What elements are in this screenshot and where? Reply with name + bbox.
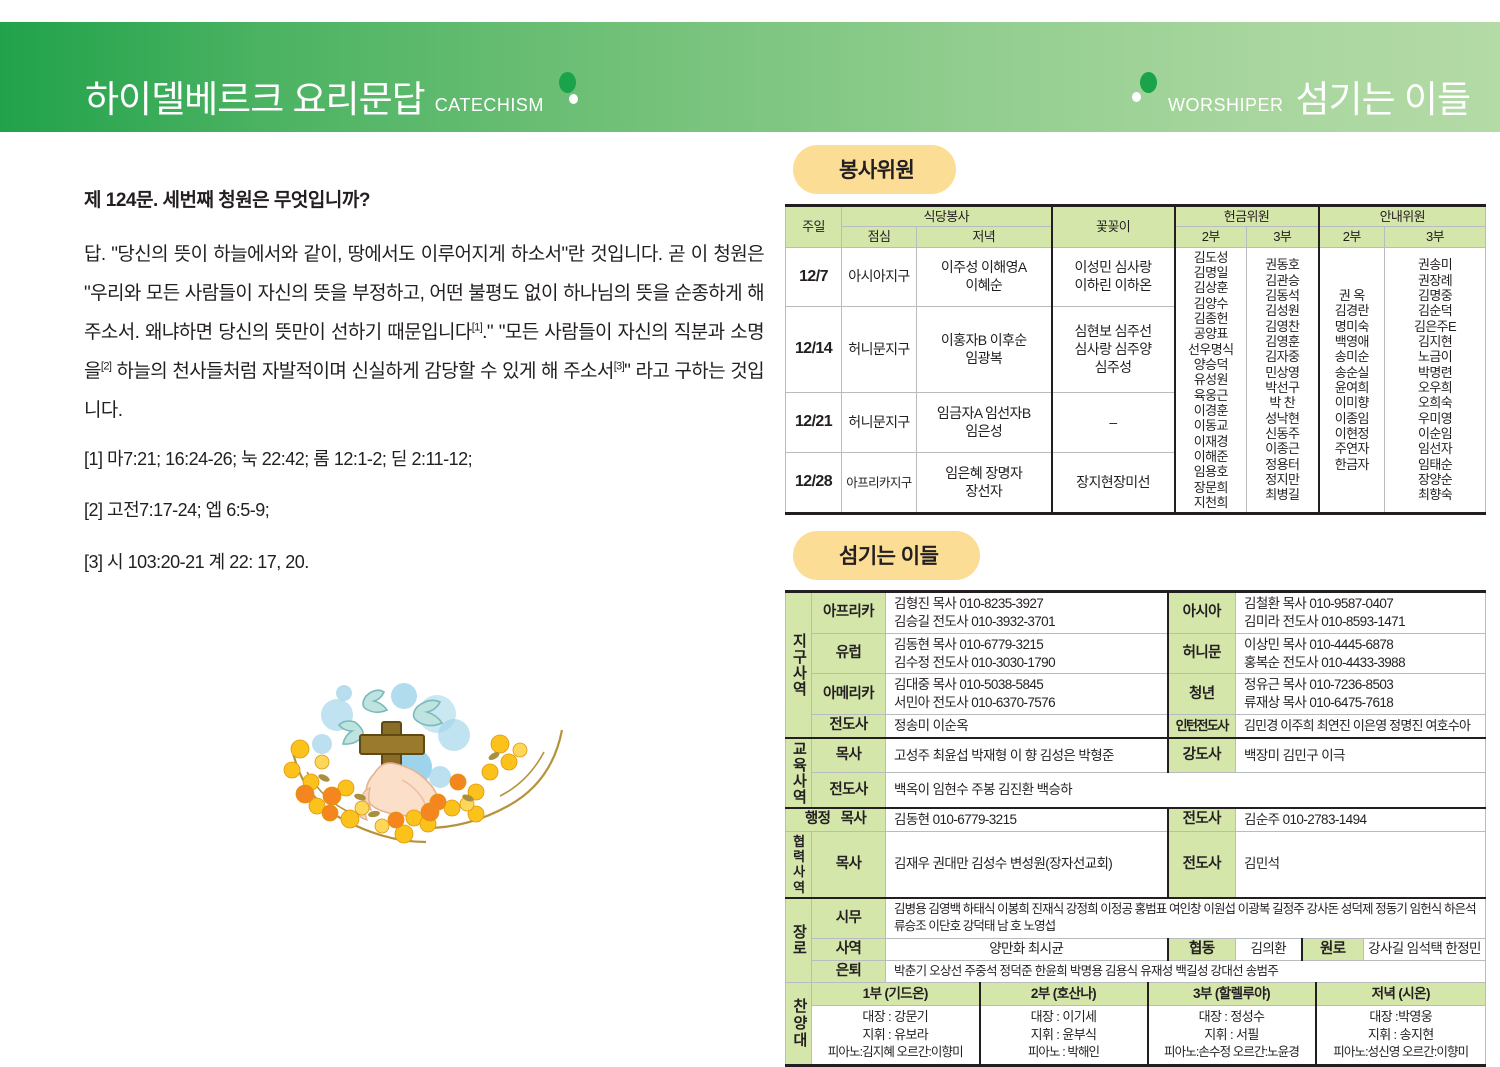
value-elder-service: 양만화 최시균 — [886, 938, 1168, 960]
choir-col-title-2: 2부 (호산나) — [980, 982, 1148, 1006]
cell-lunch-district: 아프리카지구 — [842, 453, 917, 514]
cell-dinner: 임은혜 장명자장선자 — [917, 453, 1052, 514]
value-elder-senior: 강사길 임석택 한정민 — [1364, 938, 1486, 960]
choir-staff-1: 대장 : 강문기 지휘 : 유보라 피아노:김지혜 오르간:이향미 — [812, 1006, 980, 1065]
cell-offering-part3: 권동호김관승김동석김성원김영찬김영훈김자중민상영박선구박 찬성낙현신동주이종근정… — [1247, 247, 1319, 514]
table-header-row-1: 주일 식당봉사 꽃꽂이 헌금위원 안내위원 — [786, 206, 1486, 227]
value-coop-pastor: 김재우 권대만 김성수 변성원(장자선교회) — [886, 831, 1168, 898]
table-row: 은퇴 박춘기 오상선 주중석 정덕준 한윤희 박명용 김용식 유재성 백길성 강… — [786, 960, 1486, 983]
label-admin-evangelist: 전도사 — [1168, 808, 1236, 831]
dots-decoration-icon — [554, 72, 578, 118]
catechism-answer: 답. "당신의 뜻이 하늘에서와 같이, 땅에서도 이루어지게 하소서"란 것입… — [84, 236, 764, 431]
label-district-evangelist: 전도사 — [812, 715, 886, 738]
col-header-offering: 헌금위원 — [1175, 206, 1319, 227]
choir-staff-4: 대장 :박영웅 지휘 : 송지현 피아노:성신영 오르간:이향미 — [1316, 1006, 1486, 1065]
col-header-sunday: 주일 — [786, 206, 842, 248]
value-admin-evangelist: 김순주 010-2783-1494 — [1236, 808, 1486, 831]
cell-lunch-district: 허니문지구 — [842, 307, 917, 393]
table-row: 교육사역 목사 고성주 최윤섭 박재형 이 향 김성은 박형준 강도사 백장미 … — [786, 738, 1486, 773]
value-europe: 김동현 목사 010-6779-3215김수정 전도사 010-3030-179… — [886, 633, 1168, 674]
choir-conductor-3: 지휘 : 서필 — [1152, 1026, 1312, 1044]
cell-date: 12/21 — [786, 393, 842, 453]
banner-title-worshiper: 섬기는 이들 — [1296, 81, 1470, 118]
col-header-dinner: 저녁 — [917, 227, 1052, 247]
label-preacher: 강도사 — [1168, 738, 1236, 773]
label-elder-coop: 협동 — [1168, 938, 1236, 960]
choir-table: 찬양대 1부 (기드온) 2부 (호산나) 3부 (할렐루야) 저녁 (시온) … — [785, 982, 1486, 1067]
col-header-offering-part2: 2부 — [1175, 227, 1247, 247]
label-europe: 유럽 — [812, 633, 886, 674]
value-coop-evangelist: 김민석 — [1236, 831, 1486, 898]
table-row: 전도사 백옥이 임현수 주봉 김진환 백승하 — [786, 773, 1486, 808]
cell-dinner: 이주성 이해영A이혜순 — [917, 247, 1052, 307]
label-coop: 협력사역 — [786, 831, 812, 898]
value-preacher: 백장미 김민구 이극 — [1236, 738, 1486, 773]
cell-guide-part2: 권 옥김경란명미숙백영애송미순송순실윤여희이미향이종임이현정주연자한금자 — [1319, 247, 1385, 514]
value-asia: 김철환 목사 010-9587-0407김미라 전도사 010-8593-147… — [1236, 592, 1486, 634]
volunteers-table: 주일 식당봉사 꽃꽂이 헌금위원 안내위원 점심 저녁 2부 3부 2부 3부 … — [785, 204, 1486, 515]
banner-subtitle-worshiper: WORSHIPER — [1168, 96, 1284, 118]
label-education-pastor: 목사 — [812, 738, 886, 773]
value-america: 김대중 목사 010-5038-5845서민아 전도사 010-6370-757… — [886, 674, 1168, 715]
value-intern-evangelist: 김민경 이주희 최연진 이은영 정명진 여호수아 — [1236, 715, 1486, 738]
table-row: 장로 시무 김병용 김영백 하태식 이봉희 진재식 강정희 이정공 홍범표 여인… — [786, 898, 1486, 938]
cell-lunch-district: 아시아지구 — [842, 247, 917, 307]
table-row: 아메리카 김대중 목사 010-5038-5845서민아 전도사 010-637… — [786, 674, 1486, 715]
label-elder-retired: 은퇴 — [812, 960, 886, 983]
servers-table: 지구사역 아프리카 김형진 목사 010-8235-3927김승길 전도사 01… — [785, 590, 1486, 985]
cell-flower: 심현보 심주선심사랑 심주양심주성 — [1052, 307, 1175, 393]
label-asia: 아시아 — [1168, 592, 1236, 634]
section-title-volunteers: 봉사위원 — [793, 145, 956, 194]
reference-line-3: [3] 시 103:20-21 계 22: 17, 20. — [84, 552, 764, 574]
col-header-offering-part3: 3부 — [1247, 227, 1319, 247]
row-label-district: 지구사역 — [786, 592, 812, 738]
section-title-servers: 섬기는 이들 — [793, 531, 980, 580]
value-honeymoon: 이상민 목사 010-4445-6878홍복순 전도사 010-4433-398… — [1236, 633, 1486, 674]
cell-flower: – — [1052, 393, 1175, 453]
value-education-pastor: 고성주 최윤섭 박재형 이 향 김성은 박형준 — [886, 738, 1168, 773]
value-youth: 정유근 목사 010-7236-8503류재상 목사 010-6475-7618 — [1236, 674, 1486, 715]
label-intern-evangelist: 인턴전도사 — [1168, 715, 1236, 738]
banner-right-group: WORSHIPER 섬기는 이들 — [1132, 72, 1470, 118]
page-banner: 하이델베르크 요리문답 CATECHISM WORSHIPER 섬기는 이들 — [0, 22, 1500, 132]
choir-accompanist-3: 피아노:손수정 오르간:노윤경 — [1152, 1044, 1312, 1061]
row-label-elder: 장로 — [786, 898, 812, 983]
value-elder-active: 김병용 김영백 하태식 이봉희 진재식 강정희 이정공 홍범표 여인창 이원섭 … — [886, 898, 1486, 938]
cell-date: 12/14 — [786, 307, 842, 393]
table-row: 유럽 김동현 목사 010-6779-3215김수정 전도사 010-3030-… — [786, 633, 1486, 674]
cell-date: 12/28 — [786, 453, 842, 514]
value-district-evangelist: 정송미 이순옥 — [886, 715, 1168, 738]
choir-col-title-1: 1부 (기드온) — [812, 982, 980, 1006]
value-admin-pastor: 김동현 010-6779-3215 — [886, 808, 1168, 831]
choir-accompanist-4: 피아노:성신영 오르간:이향미 — [1320, 1044, 1483, 1061]
cell-flower: 장지현장미선 — [1052, 453, 1175, 514]
table-row: 전도사 정송미 이순옥 인턴전도사 김민경 이주희 최연진 이은영 정명진 여호… — [786, 715, 1486, 738]
cell-guide-part3: 권송미권장례김명중김순덕김은주E김지현노금이박명련오우희오희숙우미영이순임임선자… — [1385, 247, 1486, 514]
banner-title-catechism: 하이델베르크 요리문답 — [85, 81, 425, 118]
table-row: 대장 : 강문기 지휘 : 유보라 피아노:김지혜 오르간:이향미 대장 : 이… — [786, 1006, 1486, 1065]
label-elder-active: 시무 — [812, 898, 886, 938]
footnote-marker-2: [2] — [101, 360, 111, 372]
reference-line-2: [2] 고전7:17-24; 엡 6:5-9; — [84, 500, 764, 522]
choir-accompanist-1: 피아노:김지혜 오르간:이향미 — [815, 1044, 976, 1061]
table-row: 사역 양만화 최시균 협동 김의환 원로 강사길 임석택 한정민 — [786, 938, 1486, 960]
row-label-choir: 찬양대 — [786, 982, 812, 1065]
label-admin-pastor: 목사 — [841, 811, 866, 827]
dots-decoration-icon-right — [1132, 72, 1156, 118]
catechism-question: 제 124문. 세번째 청원은 무엇입니까? — [84, 185, 764, 212]
row-label-education: 교육사역 — [786, 738, 812, 808]
answer-part-3: 하늘의 천사들처럼 자발적이며 신실하게 감당할 수 있게 해 주소서 — [111, 361, 613, 382]
col-header-meal: 식당봉사 — [842, 206, 1052, 227]
label-elder-senior: 원로 — [1302, 938, 1364, 960]
col-header-guide-part3: 3부 — [1385, 227, 1486, 247]
table-row: 지구사역 아프리카 김형진 목사 010-8235-3927김승길 전도사 01… — [786, 592, 1486, 634]
choir-leader-4: 대장 :박영웅 — [1320, 1008, 1483, 1026]
footnote-marker-3: [3] — [614, 360, 624, 372]
choir-staff-3: 대장 : 정성수 지휘 : 서필 피아노:손수정 오르간:노윤경 — [1148, 1006, 1316, 1065]
table-row: 협력사역 목사 김재우 권대만 김성수 변성원(장자선교회) 전도사 김민석 — [786, 831, 1486, 898]
value-elder-retired: 박춘기 오상선 주중석 정덕준 한윤희 박명용 김용식 유재성 백길성 강대선 … — [886, 960, 1486, 983]
choir-conductor-2: 지휘 : 윤부식 — [984, 1026, 1144, 1044]
col-header-lunch: 점심 — [842, 227, 917, 247]
label-youth: 청년 — [1168, 674, 1236, 715]
label-coop-evangelist: 전도사 — [1168, 831, 1236, 898]
cell-date: 12/7 — [786, 247, 842, 307]
choir-leader-1: 대장 : 강문기 — [815, 1008, 976, 1026]
value-africa: 김형진 목사 010-8235-3927김승길 전도사 010-3932-370… — [886, 592, 1168, 634]
choir-leader-2: 대장 : 이기세 — [984, 1008, 1144, 1026]
footnote-marker-1: [1] — [472, 322, 482, 334]
label-admin: 행정 목사 — [786, 808, 886, 831]
cell-dinner: 이홍자B 이후순임광복 — [917, 307, 1052, 393]
right-column: 봉사위원 주일 식당봉사 꽃꽂이 헌금위원 안내위원 점심 저녁 2부 3부 2… — [785, 145, 1485, 1067]
catechism-section: 제 124문. 세번째 청원은 무엇입니까? 답. "당신의 뜻이 하늘에서와 … — [84, 185, 764, 603]
label-africa: 아프리카 — [812, 592, 886, 634]
cell-offering-part2: 김도성김명일김상훈김양수김종헌공양표선우명식양승덕유성원육웅근이경훈이동교이재경… — [1175, 247, 1247, 514]
choir-col-title-3: 3부 (할렐루야) — [1148, 982, 1316, 1006]
choir-leader-3: 대장 : 정성수 — [1152, 1008, 1312, 1026]
label-honeymoon: 허니문 — [1168, 633, 1236, 674]
table-row: 행정 목사 김동현 010-6779-3215 전도사 김순주 010-2783… — [786, 808, 1486, 831]
label-coop-pastor: 목사 — [812, 831, 886, 898]
choir-staff-2: 대장 : 이기세 지휘 : 윤부식 피아노 : 박해인 — [980, 1006, 1148, 1065]
cell-dinner: 임금자A 임선자B임은성 — [917, 393, 1052, 453]
banner-subtitle-catechism: CATECHISM — [435, 96, 544, 118]
value-education-evangelist: 백옥이 임현수 주봉 김진환 백승하 — [886, 773, 1486, 808]
banner-left-group: 하이델베르크 요리문답 CATECHISM — [85, 72, 578, 118]
reference-line-1: [1] 마7:21; 16:24-26; 눅 22:42; 롬 12:1-2; … — [84, 449, 764, 471]
col-header-guide: 안내위원 — [1319, 206, 1486, 227]
choir-col-title-4: 저녁 (시온) — [1316, 982, 1486, 1006]
col-header-flower: 꽃꽂이 — [1052, 206, 1175, 248]
col-header-guide-part2: 2부 — [1319, 227, 1385, 247]
table-row: 12/7 아시아지구 이주성 이해영A이혜순 이성민 심사랑이하린 이하온 김도… — [786, 247, 1486, 307]
choir-accompanist-2: 피아노 : 박해인 — [984, 1044, 1144, 1061]
cell-flower: 이성민 심사랑이하린 이하온 — [1052, 247, 1175, 307]
cross-in-praying-hands-with-flowers-and-doves-icon — [262, 622, 592, 912]
table-row: 찬양대 1부 (기드온) 2부 (호산나) 3부 (할렐루야) 저녁 (시온) — [786, 982, 1486, 1006]
value-elder-coop: 김의환 — [1236, 938, 1302, 960]
label-elder-service: 사역 — [812, 938, 886, 960]
choir-conductor-4: 지휘 : 송지현 — [1320, 1026, 1483, 1044]
cell-lunch-district: 허니문지구 — [842, 393, 917, 453]
label-america: 아메리카 — [812, 674, 886, 715]
label-admin-text: 행정 — [805, 811, 830, 827]
choir-conductor-1: 지휘 : 유보라 — [815, 1026, 976, 1044]
label-education-evangelist: 전도사 — [812, 773, 886, 808]
